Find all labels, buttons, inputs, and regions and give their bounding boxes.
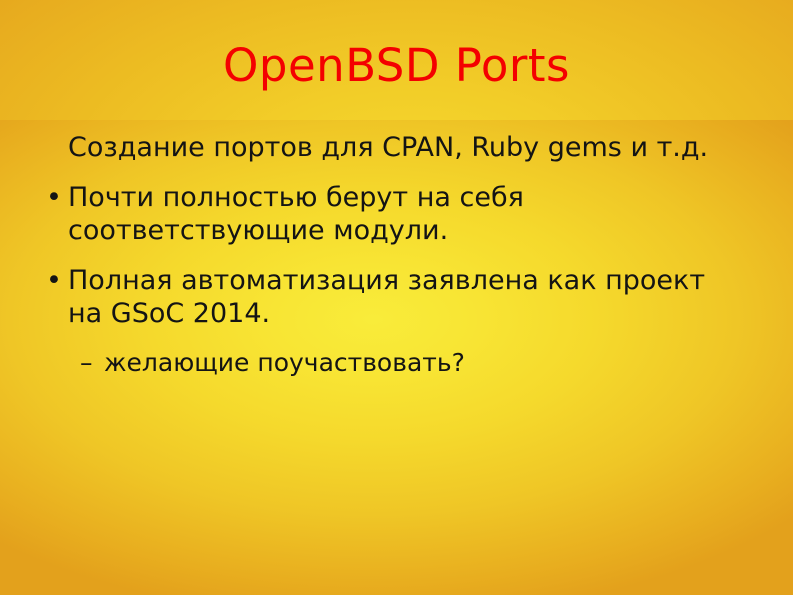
bullet-item-text: Почти полностью берут на себя соответств… bbox=[68, 181, 745, 248]
dash-marker-icon: – bbox=[80, 347, 93, 379]
slide-title: OpenBSD Ports bbox=[0, 39, 793, 93]
sub-bullet-item-text: желающие поучаствовать? bbox=[104, 347, 745, 379]
bullet-item-text: Создание портов для CPAN, Ruby gems и т.… bbox=[72, 131, 749, 165]
bullet-marker-icon: • bbox=[46, 181, 62, 215]
sub-bullet-item: – желающие поучаствовать? bbox=[104, 347, 745, 379]
bullet-marker-icon: • bbox=[46, 264, 62, 298]
bullet-item: • Почти полностью берут на себя соответс… bbox=[68, 181, 745, 248]
slide-body: Создание портов для CPAN, Ruby gems и т.… bbox=[0, 131, 793, 379]
bullet-item: Создание портов для CPAN, Ruby gems и т.… bbox=[72, 131, 749, 165]
presentation-slide: OpenBSD Ports Создание портов для CPAN, … bbox=[0, 0, 793, 595]
bullet-item-text: Полная автоматизация заявлена как проект… bbox=[68, 264, 745, 331]
bullet-item: • Полная автоматизация заявлена как прое… bbox=[68, 264, 745, 331]
